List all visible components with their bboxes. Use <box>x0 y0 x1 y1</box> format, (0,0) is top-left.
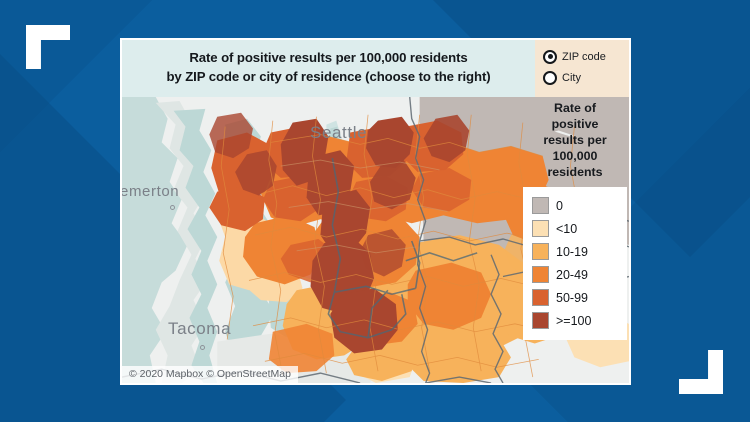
legend-swatch-icon <box>532 312 549 329</box>
legend-swatch-icon <box>532 289 549 306</box>
radio-zip-code-label: ZIP code <box>562 51 606 63</box>
legend-item: <10 <box>532 217 627 240</box>
legend-item-label: 20-49 <box>556 268 588 282</box>
legend-item: 10-19 <box>532 240 627 263</box>
page-title: Rate of positive results per 100,000 res… <box>122 40 535 97</box>
radio-city-label: City <box>562 72 581 84</box>
legend-item: 0 <box>532 194 627 217</box>
card-header: Rate of positive results per 100,000 res… <box>122 40 629 97</box>
legend-item-label: 50-99 <box>556 291 588 305</box>
radio-option-city[interactable]: City <box>543 67 629 88</box>
map-dot-bremerton <box>170 205 175 210</box>
legend-swatch-icon <box>532 197 549 214</box>
geography-selector[interactable]: ZIP code City <box>535 40 629 97</box>
legend-title-line-3: results per <box>526 133 624 149</box>
legend: 0 <10 10-19 20-49 50-99 >=100 <box>523 187 627 340</box>
legend-title-line-2: positive <box>526 117 624 133</box>
legend-item-label: >=100 <box>556 314 591 328</box>
legend-item: 50-99 <box>532 286 627 309</box>
legend-swatch-icon <box>532 243 549 260</box>
map-card: Rate of positive results per 100,000 res… <box>120 38 631 385</box>
legend-item-label: 0 <box>556 199 563 213</box>
map-dot-tacoma <box>200 345 205 350</box>
legend-title-line-1: Rate of <box>526 101 624 117</box>
title-line-1: Rate of positive results per 100,000 res… <box>189 49 467 68</box>
map-attribution: © 2020 Mapbox © OpenStreetMap <box>122 366 298 383</box>
radio-city-icon[interactable] <box>543 71 557 85</box>
legend-item: >=100 <box>532 309 627 332</box>
legend-title-line-5: residents <box>526 165 624 181</box>
legend-title-line-4: 100,000 <box>526 149 624 165</box>
legend-swatch-icon <box>532 220 549 237</box>
legend-swatch-icon <box>532 266 549 283</box>
radio-zip-code-icon[interactable] <box>543 50 557 64</box>
legend-item: 20-49 <box>532 263 627 286</box>
title-line-2: by ZIP code or city of residence (choose… <box>166 68 490 87</box>
legend-item-label: <10 <box>556 222 577 236</box>
legend-title: Rate of positive results per 100,000 res… <box>523 97 627 185</box>
radio-option-zip-code[interactable]: ZIP code <box>543 46 629 67</box>
legend-item-label: 10-19 <box>556 245 588 259</box>
